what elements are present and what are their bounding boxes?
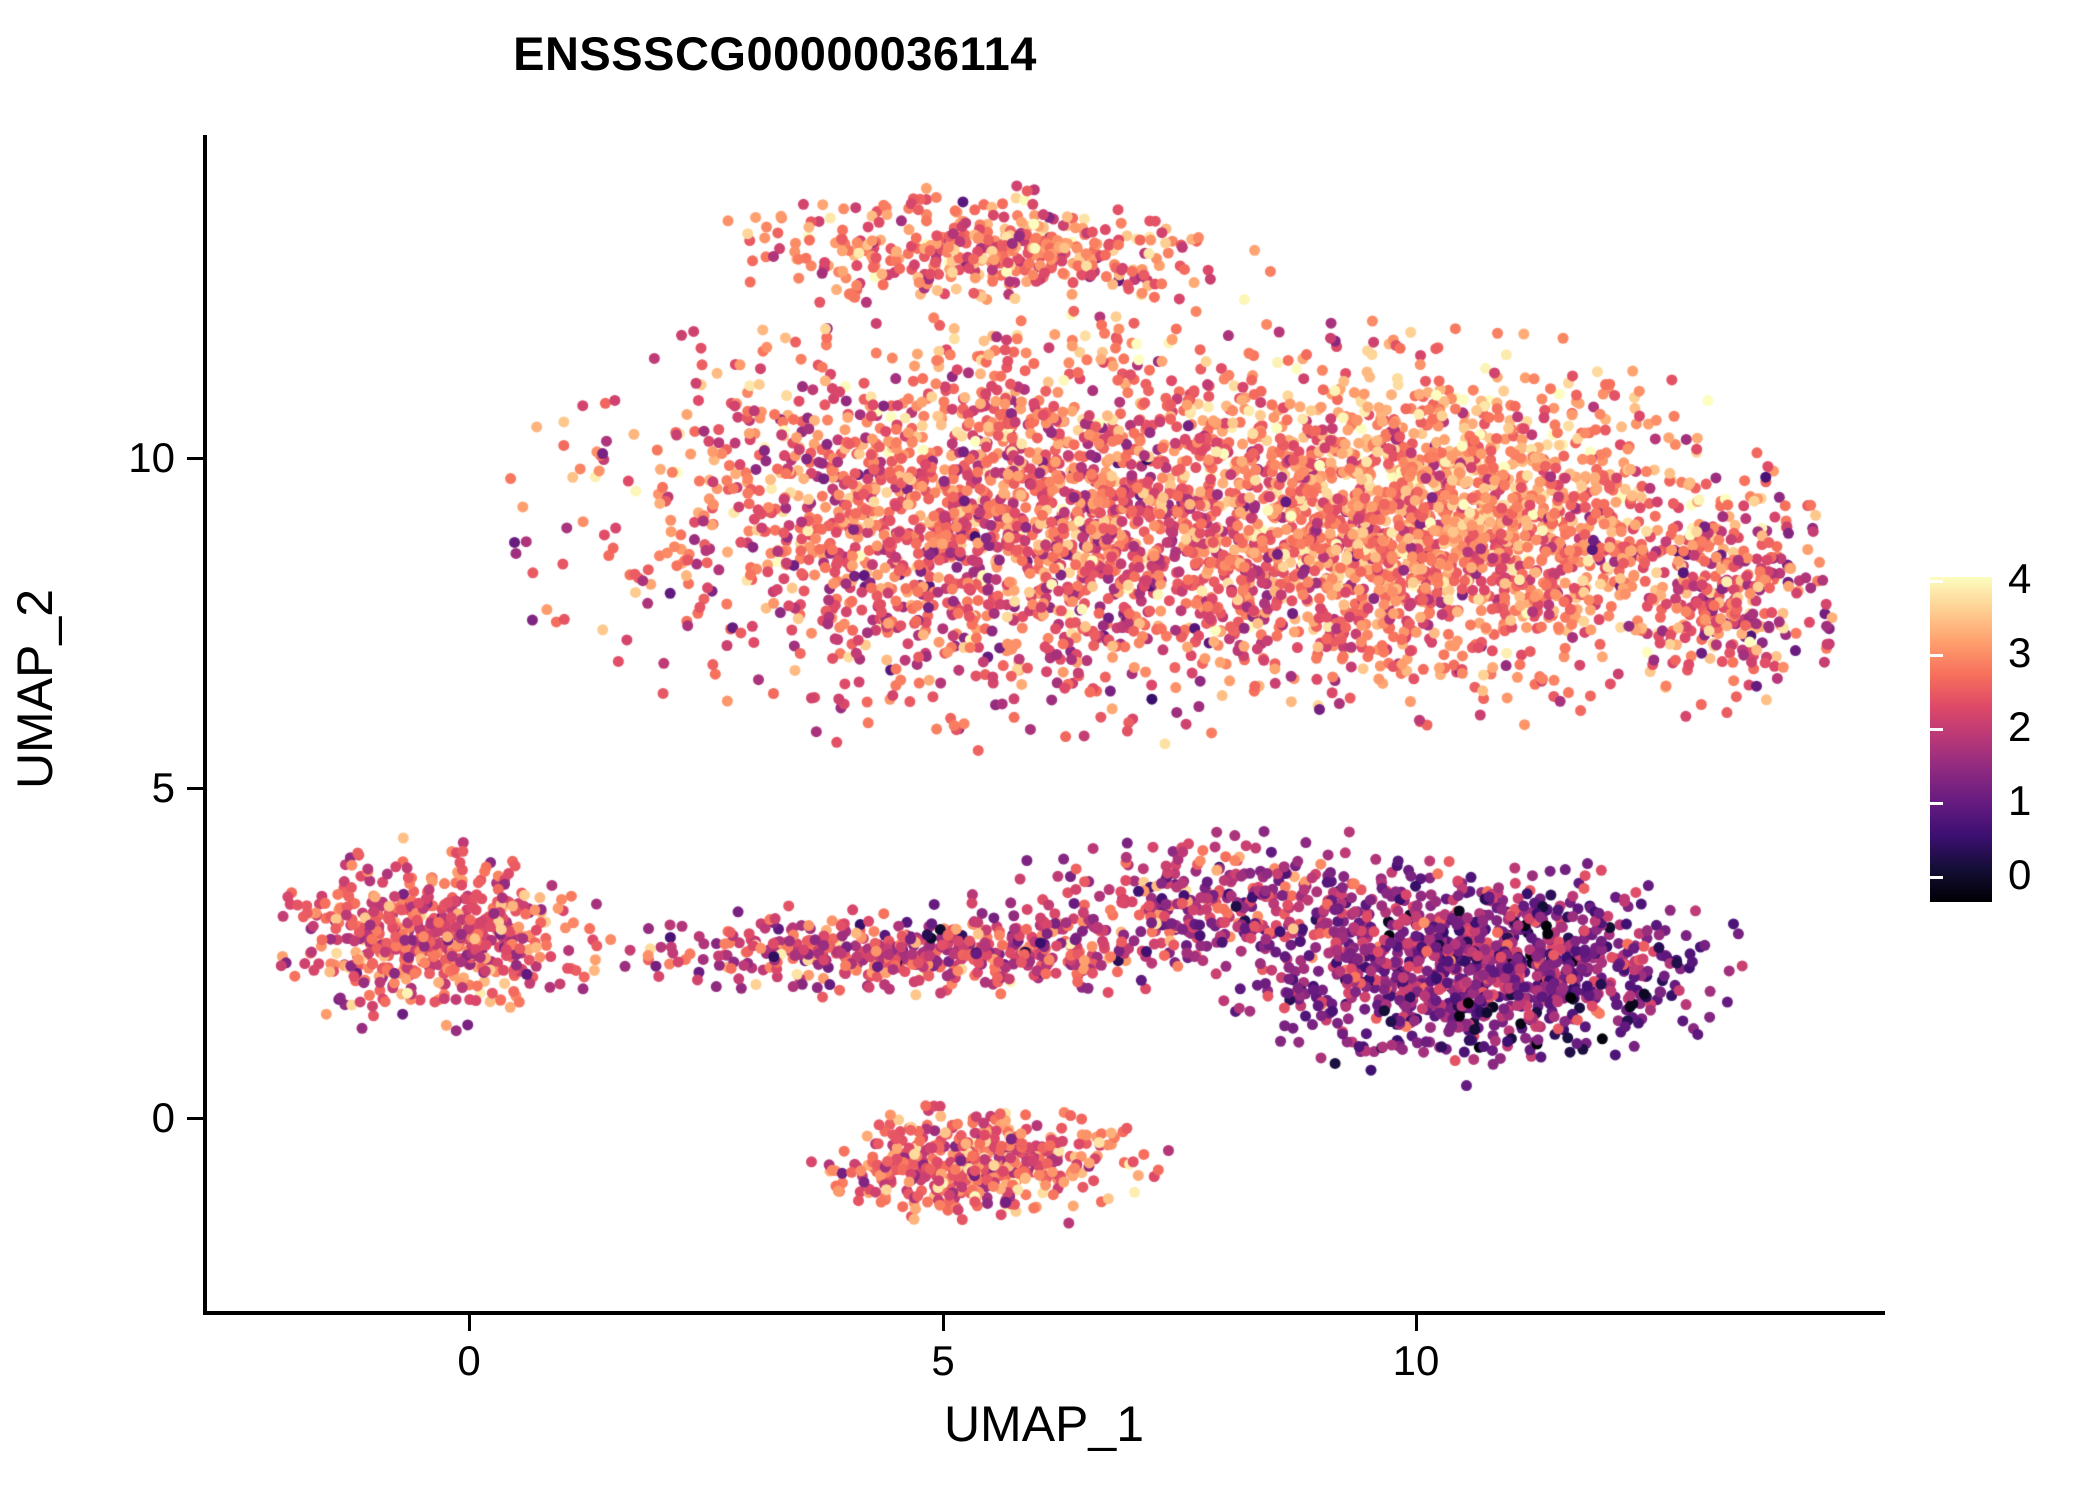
x-tick-label-5: 5: [883, 1340, 1003, 1382]
y-tick-label-0: 0: [60, 1097, 175, 1139]
legend-label-0: 0: [2008, 854, 2031, 896]
scatter-canvas: [205, 135, 1885, 1310]
legend-tick-mark-4-left: [1930, 580, 1943, 583]
legend-tick-mark-0-left: [1930, 876, 1943, 879]
legend-tick-mark-4-right: [2067, 580, 2080, 583]
legend-tick-mark-3-left: [1930, 654, 1943, 657]
x-tick-mark-10: [1415, 1315, 1418, 1331]
y-tick-label-10: 10: [60, 437, 175, 479]
y-tick-mark-0: [187, 1117, 203, 1120]
umap-feature-plot: ENSSSCG00000036114 10 5 0 0 5 10 UMAP_2 …: [0, 0, 2100, 1500]
legend-label-3: 3: [2008, 632, 2031, 674]
color-legend: 4 3 2 1 0: [1930, 577, 2080, 902]
legend-tick-mark-1-left: [1930, 802, 1943, 805]
x-axis-label: UMAP_1: [203, 1395, 1885, 1453]
x-tick-label-0: 0: [409, 1340, 529, 1382]
legend-tick-mark-0-right: [2067, 876, 2080, 879]
legend-tick-mark-2-left: [1930, 728, 1943, 731]
y-axis-line: [203, 135, 207, 1315]
y-axis-label: UMAP_2: [6, 389, 64, 989]
legend-tick-mark-2-right: [2067, 728, 2080, 731]
y-tick-mark-5: [187, 787, 203, 790]
y-tick-label-5: 5: [60, 767, 175, 809]
plot-area: [205, 135, 1885, 1310]
legend-tick-mark-3-right: [2067, 654, 2080, 657]
page-title: ENSSSCG00000036114: [0, 26, 1550, 81]
legend-label-4: 4: [2008, 558, 2031, 600]
legend-tick-mark-1-right: [2067, 802, 2080, 805]
x-tick-mark-0: [468, 1315, 471, 1331]
x-tick-label-10: 10: [1356, 1340, 1476, 1382]
y-tick-mark-10: [187, 457, 203, 460]
x-axis-line: [203, 1311, 1885, 1315]
color-legend-bar: [1930, 577, 1992, 902]
legend-label-1: 1: [2008, 780, 2031, 822]
x-tick-mark-5: [942, 1315, 945, 1331]
legend-label-2: 2: [2008, 706, 2031, 748]
